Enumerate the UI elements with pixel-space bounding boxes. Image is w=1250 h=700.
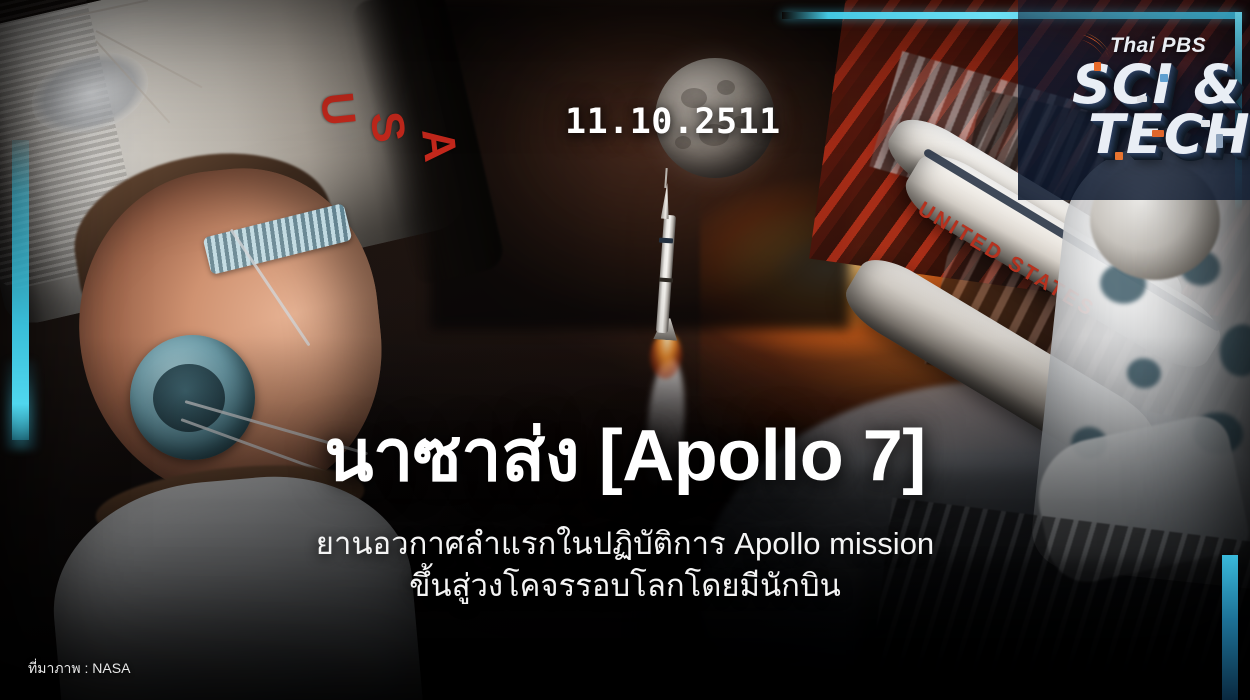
poster-canvas: UNITED STATES U S A (0, 0, 1250, 700)
logo-doodad-flask-icon (1094, 62, 1101, 71)
usa-letter-s: S (360, 109, 417, 145)
logo-doodad-book-icon (1137, 96, 1147, 102)
poster-subtitle-line2: ขึ้นสู่วงโคจรรอบโลกโดยมีนักบิน (0, 566, 1250, 607)
logo-doodad-server-icon (1152, 130, 1164, 137)
logo-doodad-chip-icon (1201, 120, 1210, 127)
poster-title: นาซาส่ง [Apollo 7] (0, 418, 1250, 494)
accent-bar-left (12, 140, 29, 440)
dark-smoke-overlay (430, 0, 850, 330)
usa-letter-u: U (310, 90, 367, 129)
logo-doodad-tower-icon (1216, 134, 1223, 148)
logo-doodad-rocket-icon (1115, 152, 1123, 160)
logo-tech-line: TECH (1088, 108, 1250, 162)
rocket-band-upper (659, 238, 673, 244)
publish-date: 11.10.2511 (565, 102, 781, 142)
image-credit: ที่มาภาพ : NASA (28, 658, 130, 680)
logo-doodad-screen-icon (1160, 74, 1168, 82)
poster-subtitle-line1: ยานอวกาศลำแรกในปฏิบัติการ Apollo mission (0, 524, 1250, 565)
